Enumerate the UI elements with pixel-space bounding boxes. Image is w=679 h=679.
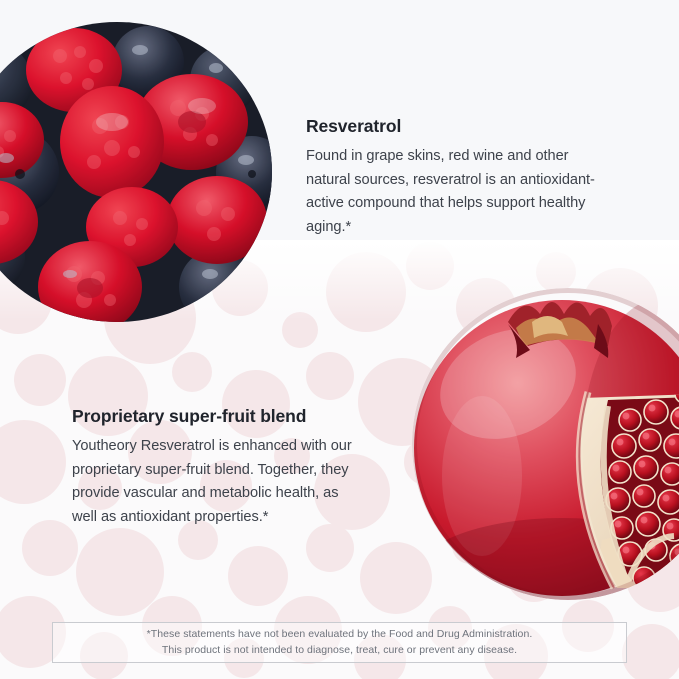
fda-disclaimer-box: *These statements have not been evaluate…	[52, 622, 627, 663]
product-detail-panel: Resveratrol Found in grape skins, red wi…	[0, 0, 679, 679]
resveratrol-body: Found in grape skins, red wine and other…	[306, 145, 606, 240]
proprietary-blend-section: Proprietary super-fruit blend Youtheory …	[72, 406, 362, 530]
proprietary-blend-heading: Proprietary super-fruit blend	[72, 406, 362, 427]
disclaimer-line-2: This product is not intended to diagnose…	[162, 643, 517, 659]
disclaimer-line-1: *These statements have not been evaluate…	[147, 627, 533, 643]
proprietary-blend-body: Youtheory Resveratrol is enhanced with o…	[72, 435, 362, 530]
resveratrol-heading: Resveratrol	[306, 116, 606, 137]
resveratrol-section: Resveratrol Found in grape skins, red wi…	[306, 116, 606, 240]
